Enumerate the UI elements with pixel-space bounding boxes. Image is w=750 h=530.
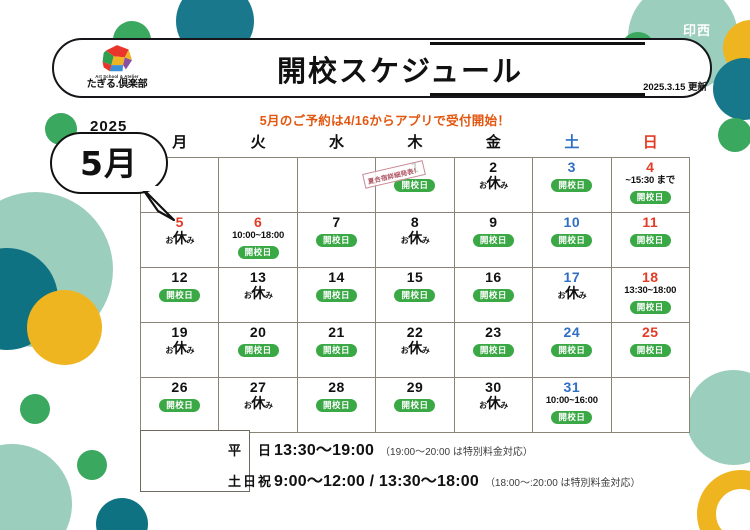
day-number: 29 xyxy=(376,380,453,395)
hours-note-weekend: （18:00〜:20:00 は特別料金対応） xyxy=(485,474,641,489)
closed-day-label: お休み xyxy=(219,286,296,301)
calendar-day-cell: 3開校日 xyxy=(533,158,611,213)
day-number: 30 xyxy=(455,380,532,395)
day-number: 11 xyxy=(612,215,689,230)
day-number: 26 xyxy=(141,380,218,395)
day-number: 22 xyxy=(376,325,453,340)
title-rule-bottom xyxy=(430,93,645,96)
day-number: 3 xyxy=(533,160,610,175)
hours-row-weekday: 平 日 13:30〜19:00 （19:00〜20:00 は特別料金対応） xyxy=(228,436,641,460)
closed-day-label: お休み xyxy=(219,396,296,411)
calendar-day-cell: 16開校日 xyxy=(454,268,532,323)
day-number: 31 xyxy=(533,380,610,395)
open-day-badge: 開校日 xyxy=(533,230,610,248)
open-day-badge: 開校日 xyxy=(219,340,296,358)
open-day-badge-label: 開校日 xyxy=(551,179,592,192)
weekday-header-wed: 水 xyxy=(297,128,375,158)
calendar-day-cell: 11開校日 xyxy=(611,213,689,268)
open-day-badge-label: 開校日 xyxy=(394,399,435,412)
deco-circle-green-left-mid xyxy=(20,394,50,424)
closed-day-label: お休み xyxy=(455,396,532,411)
page-title: 開校スケジュール xyxy=(235,48,565,90)
calendar-day-cell: 23開校日 xyxy=(454,323,532,378)
day-number: 20 xyxy=(219,325,296,340)
calendar-day-cell: 29開校日 xyxy=(376,378,454,433)
calendar-day-cell: 4~15:30 まで開校日 xyxy=(611,158,689,213)
day-number: 27 xyxy=(219,380,296,395)
business-hours-legend: 平 日 13:30〜19:00 （19:00〜20:00 は特別料金対応） 土日… xyxy=(228,436,641,498)
hours-note-weekday: （19:00〜20:00 は特別料金対応） xyxy=(380,443,533,458)
open-day-badge: 開校日 xyxy=(298,230,375,248)
schedule-calendar: 月 火 水 木 金 土 日 夏合宿詳細発表！1開校日2お休み3開校日4~15:3… xyxy=(140,128,690,433)
closed-day-label: お休み xyxy=(533,286,610,301)
open-day-badge-label: 開校日 xyxy=(159,289,200,302)
closed-day-label: お休み xyxy=(141,341,218,356)
open-day-badge-label: 開校日 xyxy=(630,301,671,314)
calendar-day-cell: 3110:00~16:00開校日 xyxy=(533,378,611,433)
calendar-day-cell: 30お休み xyxy=(454,378,532,433)
open-day-badge-label: 開校日 xyxy=(551,344,592,357)
day-number: 12 xyxy=(141,270,218,285)
calendar-day-cell: 28開校日 xyxy=(297,378,375,433)
weekday-header-sun: 日 xyxy=(611,128,689,158)
city-label: 印西 xyxy=(683,20,711,39)
calendar-day-cell: 7開校日 xyxy=(297,213,375,268)
open-day-badge-label: 開校日 xyxy=(394,289,435,302)
calendar-day-cell: 25開校日 xyxy=(611,323,689,378)
open-day-badge-label: 開校日 xyxy=(630,191,671,204)
calendar-day-cell: 610:00~18:00開校日 xyxy=(219,213,297,268)
day-number: 8 xyxy=(376,215,453,230)
deco-circle-teal-bottomleft xyxy=(96,498,148,530)
day-number: 4 xyxy=(612,160,689,175)
deco-circle-mint-bottomleft xyxy=(0,444,72,530)
calendar-body: 夏合宿詳細発表！1開校日2お休み3開校日4~15:30 まで開校日5お休み610… xyxy=(141,158,690,433)
open-day-badge: 開校日 xyxy=(533,407,610,425)
open-day-badge: 開校日 xyxy=(298,395,375,413)
month-bubble: 5月 xyxy=(50,132,168,194)
calendar-week-row: 26開校日27お休み28開校日29開校日30お休み3110:00~16:00開校… xyxy=(141,378,690,433)
open-day-badge: 開校日 xyxy=(455,230,532,248)
reservation-notice: 5月のご予約は4/16からアプリで受付開始！ xyxy=(215,110,555,129)
open-day-badge: 開校日 xyxy=(612,230,689,248)
calendar-day-cell: 26開校日 xyxy=(141,378,219,433)
day-hours: 10:00~18:00 xyxy=(219,231,296,242)
open-day-badge: 開校日 xyxy=(533,340,610,358)
open-day-badge-label: 開校日 xyxy=(630,344,671,357)
weekday-header-sat: 土 xyxy=(533,128,611,158)
open-day-badge-label: 開校日 xyxy=(316,399,357,412)
calendar-day-cell: 1813:30~18:00開校日 xyxy=(611,268,689,323)
open-day-badge-label: 開校日 xyxy=(551,411,592,424)
calendar-day-cell: 22お休み xyxy=(376,323,454,378)
deco-circle-yellow-left xyxy=(27,290,102,365)
open-day-badge: 開校日 xyxy=(376,395,453,413)
calendar-day-cell: 12開校日 xyxy=(141,268,219,323)
logo-cube-icon xyxy=(100,44,134,74)
calendar-day-cell: 8お休み xyxy=(376,213,454,268)
open-day-badge: 開校日 xyxy=(612,187,689,205)
open-day-badge-label: 開校日 xyxy=(159,399,200,412)
open-day-badge-label: 開校日 xyxy=(238,246,279,259)
closed-day-label: お休み xyxy=(141,231,218,246)
bubble-tail-shape xyxy=(140,186,180,224)
hours-label-weekend: 土日祝 xyxy=(228,471,274,490)
calendar-day-cell: 19お休み xyxy=(141,323,219,378)
brand-logo: Art School & Atelier たぎる.倶楽部 xyxy=(72,44,162,92)
hours-row-weekend: 土日祝 9:00〜12:00 / 13:30〜18:00 （18:00〜:20:… xyxy=(228,467,641,491)
calendar-day-cell: 2お休み xyxy=(454,158,532,213)
hours-time-weekend: 9:00〜12:00 / 13:30〜18:00 xyxy=(274,467,479,491)
calendar-cell-empty xyxy=(611,378,689,433)
calendar-header-row: 月 火 水 木 金 土 日 xyxy=(141,128,690,158)
day-hours: 10:00~16:00 xyxy=(533,396,610,407)
day-number: 17 xyxy=(533,270,610,285)
day-number: 24 xyxy=(533,325,610,340)
open-day-badge-label: 開校日 xyxy=(316,234,357,247)
calendar-day-cell: 13お休み xyxy=(219,268,297,323)
calendar-day-cell: 24開校日 xyxy=(533,323,611,378)
day-number: 14 xyxy=(298,270,375,285)
open-day-badge: 開校日 xyxy=(141,395,218,413)
deco-ring-yellow-bottomright xyxy=(697,470,750,530)
updated-date: 2025.3.15 更新 xyxy=(643,79,707,93)
day-hours: ~15:30 まで xyxy=(612,176,689,187)
open-day-badge-label: 開校日 xyxy=(473,234,514,247)
open-day-badge: 開校日 xyxy=(455,285,532,303)
open-day-badge-label: 開校日 xyxy=(551,234,592,247)
open-day-badge: 開校日 xyxy=(219,242,296,260)
open-day-badge: 開校日 xyxy=(376,285,453,303)
closed-day-label: お休み xyxy=(376,231,453,246)
open-day-badge: 開校日 xyxy=(298,285,375,303)
calendar-day-cell: 夏合宿詳細発表！1開校日 xyxy=(376,158,454,213)
open-day-badge-label: 開校日 xyxy=(238,344,279,357)
closed-day-label: お休み xyxy=(376,341,453,356)
calendar-week-row: 夏合宿詳細発表！1開校日2お休み3開校日4~15:30 まで開校日 xyxy=(141,158,690,213)
deco-circle-mint-bottomright xyxy=(686,370,750,465)
weekday-header-tue: 火 xyxy=(219,128,297,158)
poster-canvas: Art School & Atelier たぎる.倶楽部 開校スケジュール 20… xyxy=(0,0,750,530)
day-number: 9 xyxy=(455,215,532,230)
open-day-badge: 開校日 xyxy=(298,340,375,358)
day-number: 28 xyxy=(298,380,375,395)
calendar-day-cell: 21開校日 xyxy=(297,323,375,378)
open-day-badge-label: 開校日 xyxy=(473,289,514,302)
day-number: 21 xyxy=(298,325,375,340)
open-day-badge: 開校日 xyxy=(612,340,689,358)
calendar-week-row: 5お休み610:00~18:00開校日7開校日8お休み9開校日10開校日11開校… xyxy=(141,213,690,268)
deco-circle-green-right-2 xyxy=(718,118,750,152)
open-day-badge: 開校日 xyxy=(141,285,218,303)
weekday-header-thu: 木 xyxy=(376,128,454,158)
open-day-badge-label: 開校日 xyxy=(630,234,671,247)
calendar-day-cell: 20開校日 xyxy=(219,323,297,378)
calendar-day-cell: 27お休み xyxy=(219,378,297,433)
day-number: 2 xyxy=(455,160,532,175)
open-day-badge-label: 開校日 xyxy=(316,289,357,302)
day-number: 10 xyxy=(533,215,610,230)
hours-label-weekday: 平 日 xyxy=(228,440,274,459)
weekday-header-fri: 金 xyxy=(454,128,532,158)
calendar-day-cell: 15開校日 xyxy=(376,268,454,323)
day-number: 25 xyxy=(612,325,689,340)
day-number: 16 xyxy=(455,270,532,285)
open-day-badge-label: 開校日 xyxy=(316,344,357,357)
day-number: 6 xyxy=(219,215,296,230)
open-day-badge: 開校日 xyxy=(533,175,610,193)
open-day-badge: 開校日 xyxy=(612,297,689,315)
closed-day-label: お休み xyxy=(455,176,532,191)
calendar-cell-empty xyxy=(219,158,297,213)
day-number: 13 xyxy=(219,270,296,285)
title-rule-top xyxy=(430,42,645,45)
calendar-day-cell: 17お休み xyxy=(533,268,611,323)
calendar-day-cell: 10開校日 xyxy=(533,213,611,268)
logo-japanese-text: たぎる.倶楽部 xyxy=(87,80,148,90)
day-hours: 13:30~18:00 xyxy=(612,286,689,297)
month-label: 5月 xyxy=(80,147,138,180)
day-number: 19 xyxy=(141,325,218,340)
open-day-badge-label: 開校日 xyxy=(473,344,514,357)
calendar-day-cell: 9開校日 xyxy=(454,213,532,268)
deco-circle-green-bottomleft xyxy=(77,450,107,480)
calendar-day-cell: 14開校日 xyxy=(297,268,375,323)
open-day-badge: 開校日 xyxy=(455,340,532,358)
day-number: 23 xyxy=(455,325,532,340)
day-number: 15 xyxy=(376,270,453,285)
day-number: 18 xyxy=(612,270,689,285)
hours-time-weekday: 13:30〜19:00 xyxy=(274,436,374,460)
open-day-badge-label: 開校日 xyxy=(394,179,435,192)
calendar-week-row: 12開校日13お休み14開校日15開校日16開校日17お休み1813:30~18… xyxy=(141,268,690,323)
day-number: 7 xyxy=(298,215,375,230)
calendar-week-row: 19お休み20開校日21開校日22お休み23開校日24開校日25開校日 xyxy=(141,323,690,378)
